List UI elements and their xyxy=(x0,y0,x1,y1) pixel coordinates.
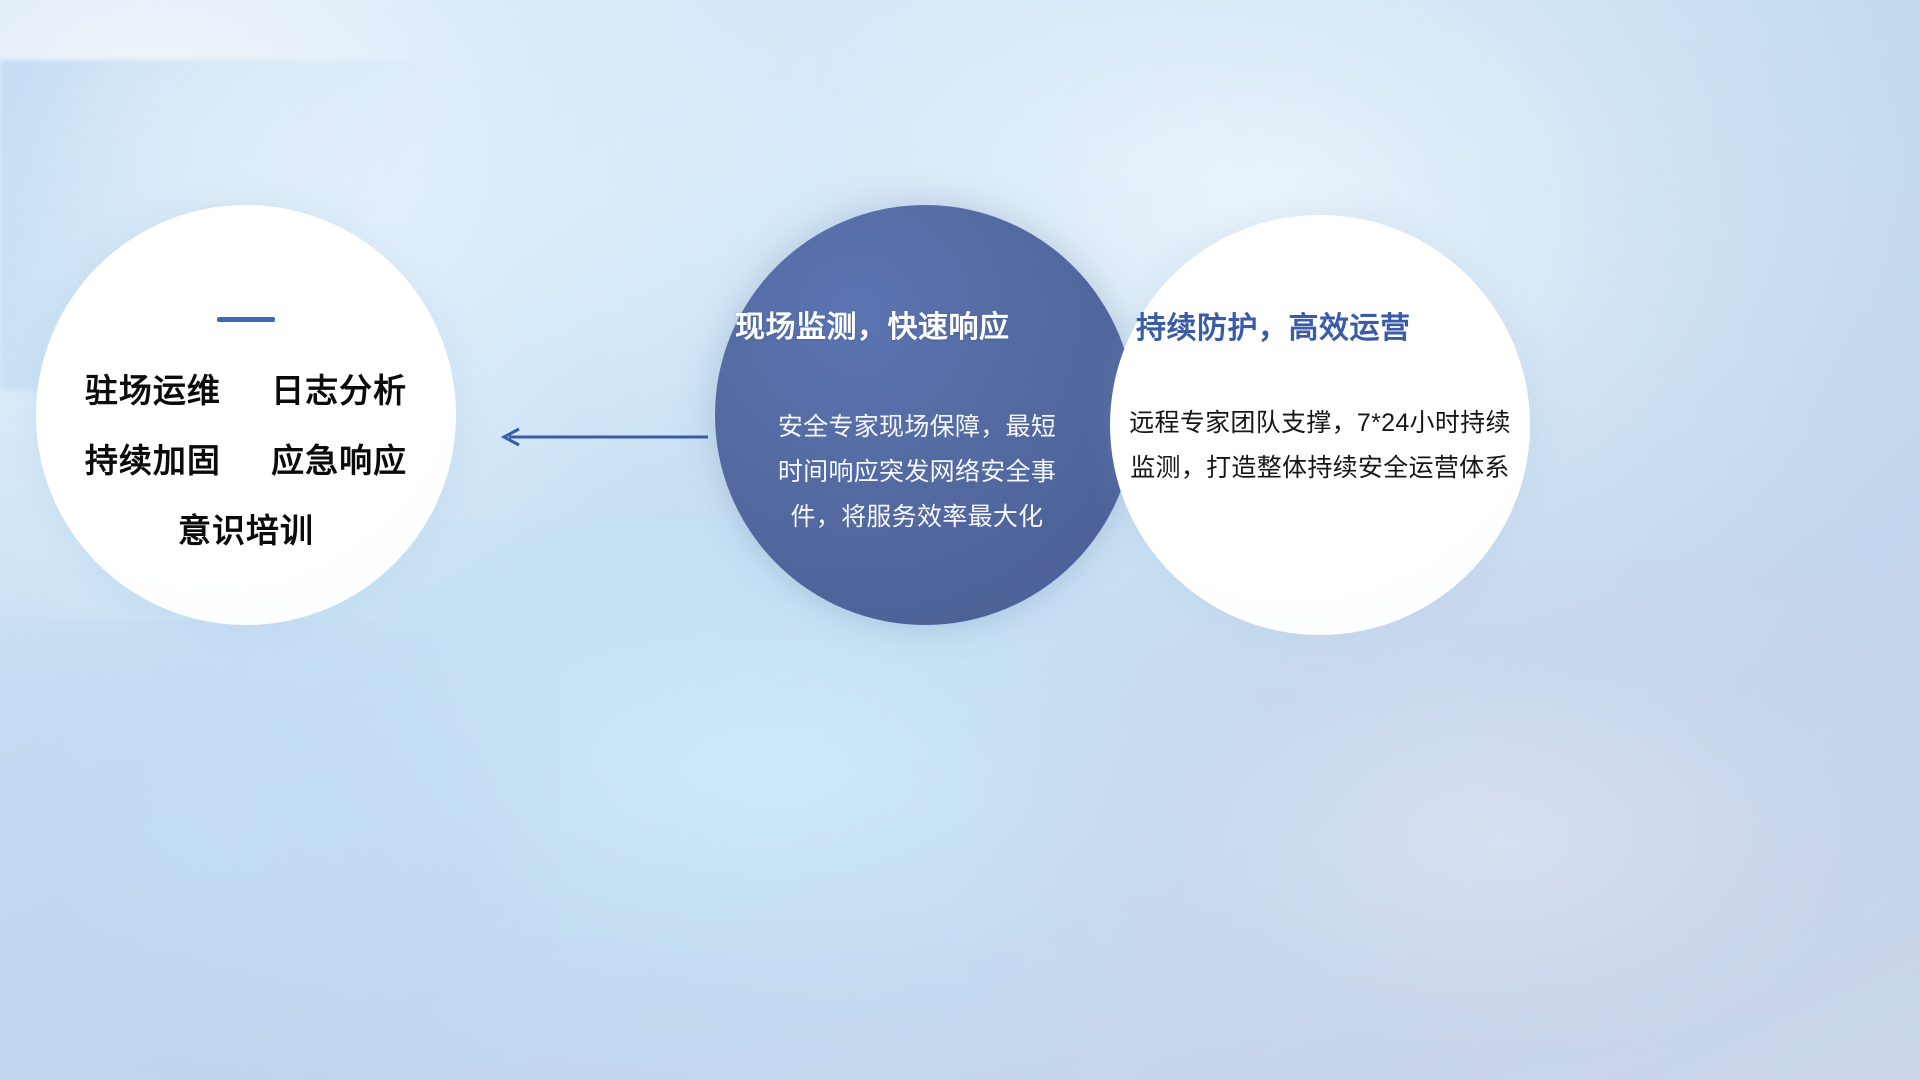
capability-circle-right: 持续防护，高效运营 远程专家团队支撑，7*24小时持续监测，打造整体持续安全运营… xyxy=(1110,215,1530,635)
middle-circle-title: 现场监测，快速响应 xyxy=(735,302,1135,346)
capability-row: 持续加固 应急响应 xyxy=(36,444,456,477)
capability-item-label: 应急响应 xyxy=(271,442,407,479)
capability-item-label: 日志分析 xyxy=(271,372,407,409)
capability-item-label: 持续加固 xyxy=(85,442,221,479)
capability-item-label: 驻场运维 xyxy=(85,372,221,409)
arrow-left-icon xyxy=(495,424,710,450)
capability-circle-left: 驻场运维 日志分析 持续加固 应急响应 意识培训 xyxy=(36,205,456,625)
capability-item-label: 意识培训 xyxy=(178,512,314,549)
divider-dash-icon xyxy=(217,317,275,322)
right-circle-title: 持续防护，高效运营 xyxy=(1136,303,1536,347)
middle-circle-content: 现场监测，快速响应 安全专家现场保障，最短时间响应突发网络安全事件，将服务效率最… xyxy=(715,205,1135,625)
right-circle-content: 持续防护，高效运营 远程专家团队支撑，7*24小时持续监测，打造整体持续安全运营… xyxy=(1110,215,1530,635)
slide-canvas: 驻场运维 日志分析 持续加固 应急响应 意识培训 现场监测，快速响应 安全专家现… xyxy=(0,0,1920,1080)
right-circle-body: 远程专家团队支撑，7*24小时持续监测，打造整体持续安全运营体系 xyxy=(1122,401,1518,491)
middle-circle-body: 安全专家现场保障，最短时间响应突发网络安全事件，将服务效率最大化 xyxy=(767,405,1067,540)
capability-circle-middle: 现场监测，快速响应 安全专家现场保障，最短时间响应突发网络安全事件，将服务效率最… xyxy=(715,205,1135,625)
capability-row: 驻场运维 日志分析 xyxy=(36,374,456,407)
left-circle-content: 驻场运维 日志分析 持续加固 应急响应 意识培训 xyxy=(36,317,456,547)
capability-row: 意识培训 xyxy=(36,514,456,547)
